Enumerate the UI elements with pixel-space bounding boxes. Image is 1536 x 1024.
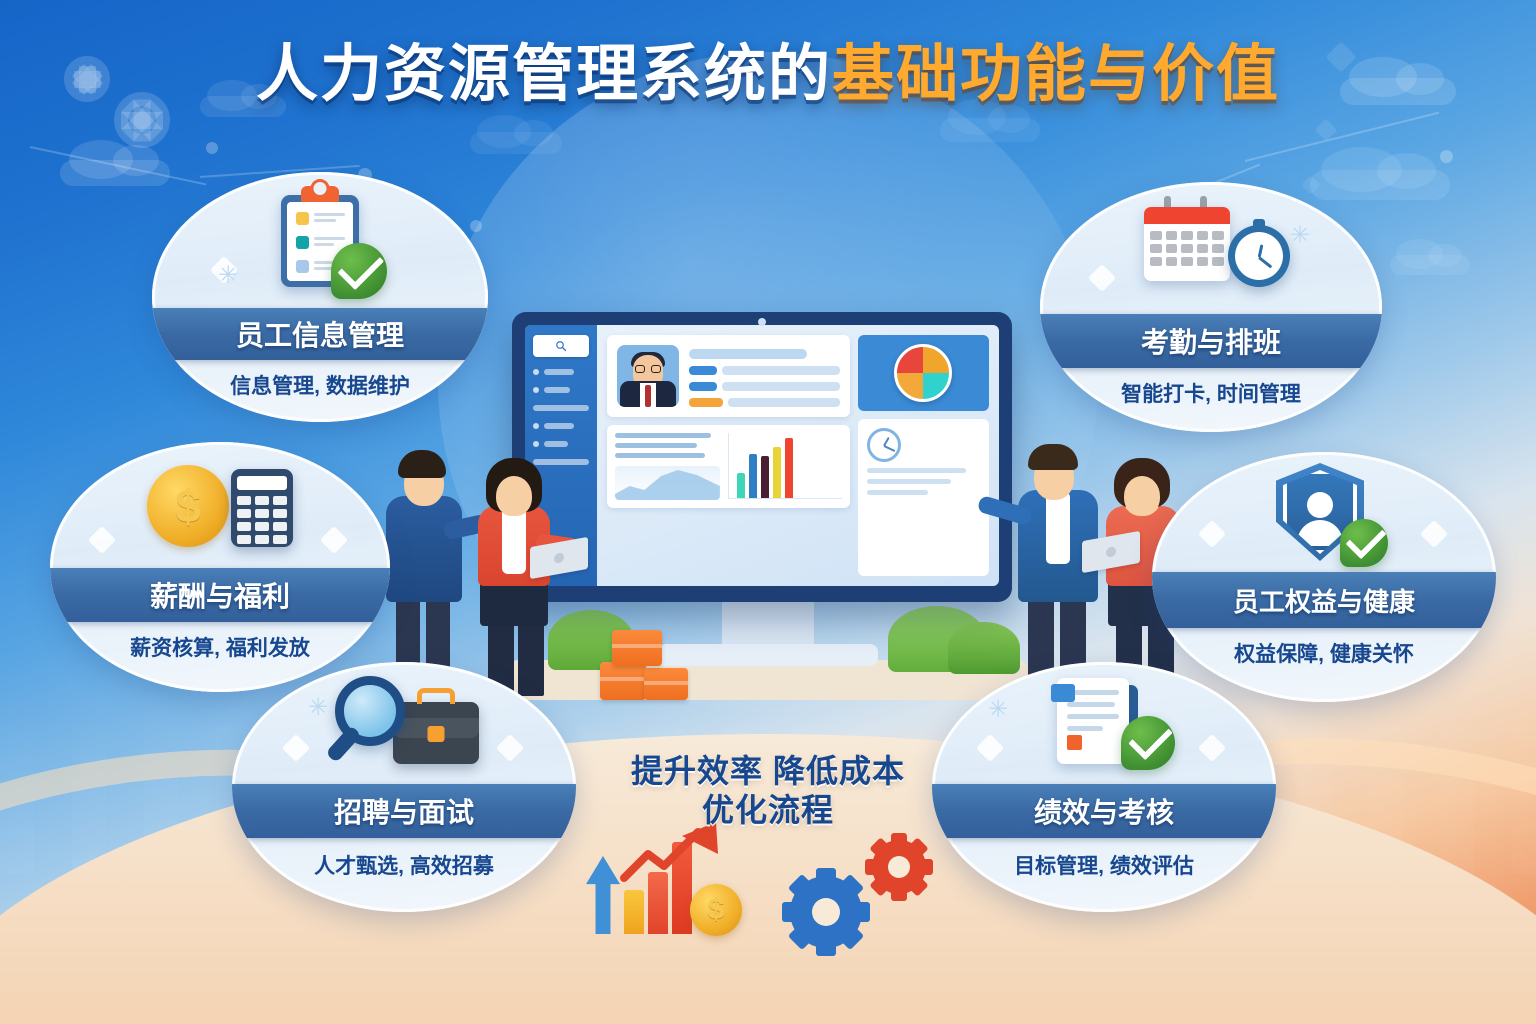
profile-field-lines: [689, 345, 840, 407]
bubble-subtitle: 薪资核算, 福利发放: [50, 632, 390, 662]
pie-chart: [894, 344, 952, 402]
sidebar-item[interactable]: [533, 405, 589, 411]
bubble-title: 招聘与面试: [334, 791, 474, 831]
search-input[interactable]: [533, 335, 589, 357]
check-badge-icon: [1340, 519, 1388, 567]
glasses-icon: [635, 365, 661, 373]
calendar-icon: [1144, 207, 1230, 281]
bubble-subtitle: 信息管理, 数据维护: [152, 370, 488, 400]
title-gold-part: 基础功能与价值: [832, 40, 1280, 109]
person-left-woman: [464, 452, 582, 696]
hr-dashboard-screen[interactable]: [525, 325, 999, 586]
dollar-symbol: $: [708, 893, 725, 927]
area-chart: [615, 466, 720, 500]
bubble-employee-info[interactable]: ✳ 员工信息管理 信息管理, 数据维护: [152, 172, 488, 422]
pie-chart-panel[interactable]: [858, 335, 989, 411]
employee-profile-card[interactable]: [607, 335, 850, 417]
title-white-part: 人力资源管理系统的: [256, 40, 832, 109]
stopwatch-icon: [1228, 225, 1290, 287]
bubble-title: 考勤与排班: [1141, 321, 1281, 361]
bubble-payroll[interactable]: $ 薪酬与福利 薪资核算, 福利发放: [50, 442, 390, 692]
dashboard-right-column: [858, 335, 989, 576]
bubble-banner: 绩效与考核: [932, 784, 1276, 838]
icon-clipboard-check: [152, 172, 488, 310]
bar-chart-panel: [728, 433, 842, 499]
check-badge-icon: [331, 243, 387, 299]
bubble-performance[interactable]: ✳ 绩效与考核 目标管理, 绩效评估: [932, 662, 1276, 912]
briefcase-icon: [393, 702, 479, 764]
icon-document-check: [932, 662, 1276, 786]
area-chart-panel: [615, 433, 720, 500]
bubble-title: 员工权益与健康: [1233, 582, 1415, 619]
orange-box-stack: [596, 628, 696, 700]
bubble-subtitle: 人才甄选, 高效招募: [232, 850, 576, 880]
dashboard-left-column: [607, 335, 850, 576]
document-icon: [1057, 678, 1129, 764]
icon-coin-calculator: $: [50, 442, 390, 572]
blue-up-arrow-icon: [586, 856, 620, 934]
growth-bar: [624, 890, 644, 934]
icon-calendar-clock: [1040, 182, 1382, 316]
bubble-banner: 招聘与面试: [232, 784, 576, 838]
bubble-attendance[interactable]: ✳ 考勤与排班 智能打卡, 时间管理: [1040, 182, 1382, 432]
bubble-title: 绩效与考核: [1034, 791, 1174, 831]
bubble-subtitle: 智能打卡, 时间管理: [1040, 378, 1382, 408]
sidebar-item[interactable]: [533, 387, 589, 393]
bubble-title: 薪酬与福利: [150, 575, 290, 615]
poster-title-wrap: 人力资源管理系统的基础功能与价值: [0, 44, 1536, 106]
infographic-poster: 人力资源管理系统的基础功能与价值: [0, 0, 1536, 1024]
page-title: 人力资源管理系统的基础功能与价值: [256, 44, 1280, 106]
monitor-stand-neck: [722, 600, 814, 646]
bubble-banner: 员工权益与健康: [1152, 572, 1496, 628]
dollar-coin-icon: $: [147, 465, 229, 547]
clock-document-panel[interactable]: [858, 419, 989, 576]
icon-shield-user: [1152, 452, 1496, 574]
sidebar-item[interactable]: [533, 369, 589, 375]
bubble-title: 员工信息管理: [236, 314, 404, 354]
bubble-banner: 员工信息管理: [152, 308, 488, 360]
bubble-subtitle: 目标管理, 绩效评估: [932, 850, 1276, 880]
analytics-card[interactable]: [607, 425, 850, 508]
calculator-icon: [231, 469, 293, 547]
magnifier-icon: [335, 676, 405, 746]
dashboard-main: [597, 325, 999, 586]
search-icon: [555, 340, 567, 352]
sidebar-item[interactable]: [533, 423, 589, 429]
bubble-banner: 考勤与排班: [1040, 314, 1382, 368]
growth-graphics: $: [580, 820, 780, 940]
webcam-icon: [758, 318, 766, 326]
bubble-banner: 薪酬与福利: [50, 568, 390, 622]
dollar-coin-icon: $: [690, 884, 742, 936]
clock-icon: [867, 428, 901, 462]
clipboard-icon: [281, 195, 359, 287]
avatar: [617, 345, 679, 407]
icon-magnifier-briefcase: [232, 662, 576, 786]
bubble-recruitment[interactable]: ✳ 招聘与面试 人才甄选, 高效招募: [232, 662, 576, 912]
sidebar-item[interactable]: [533, 441, 589, 447]
check-badge-icon: [1121, 716, 1175, 770]
